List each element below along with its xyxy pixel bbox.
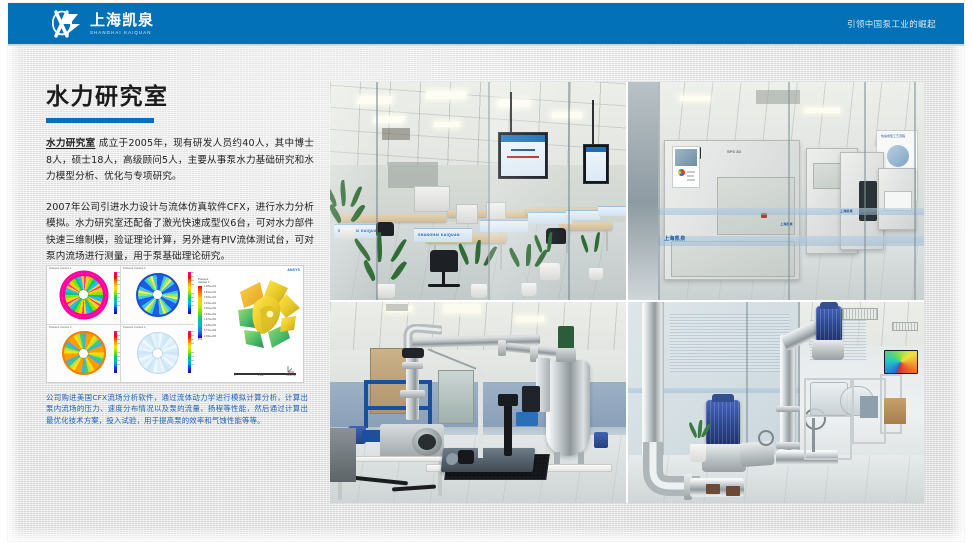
display-screen-secondary[interactable] [583,144,609,184]
legend-value: 1.579e+004 [204,319,216,322]
glass-reflection [488,82,568,300]
impeller-hub-3 [79,349,88,358]
display-screen-content [586,147,606,181]
plant-leaf [390,238,407,263]
scale-bar: 0 0.100 0.200 (m) [234,373,296,378]
cfd-simulation-figure: Pressure Contour 1 Pressure Contour 2 Pr… [46,265,304,383]
slide-root: 上海凯泉 SHANGHAI KAIQUAN 引领中国泵工业的崛起 水力研究室 水… [0,0,972,549]
partition-logo: SHANGHAI KAIQUAN [418,233,460,237]
plant-leaf [390,260,407,282]
office-cabinet [414,186,450,212]
motor-cooling-fins [816,306,842,342]
pump-base-block [706,484,720,494]
glass-partition-mullion [864,82,866,300]
instrument-box [522,386,540,412]
legend-value: 4.285e+004 [204,286,216,289]
ceiling-vent [892,322,918,331]
impeller-contour-graphic-4 [137,332,179,374]
page-title: 水力研究室 [46,84,314,111]
placard-text-line [687,179,696,181]
office-chair [430,250,458,272]
left-text-column: 水力研究室 水力研究室 成立于2005年，现有研发人员约40人，其中博士8人，硕… [46,84,314,266]
impeller-hub-1 [79,290,88,299]
pump-casing-rear [812,340,844,360]
ansys-vendor-tag: ANSYS [287,268,300,272]
ceiling-light [804,108,840,113]
ceiling-light [425,91,466,99]
ceiling-light [516,316,544,322]
motor-fan-cover [820,302,838,309]
chair-base [428,284,460,287]
placard-pie-chart [678,169,685,176]
ceiling-light [680,96,710,101]
machine-control-screen[interactable] [859,181,877,221]
photo-piv-test-rig[interactable] [330,302,626,503]
glass-reflection [330,82,376,300]
pipe-flange [400,390,425,398]
equipment-rack-post [428,380,432,426]
kaiquan-k-monogram-icon [50,10,84,38]
scale-label: 0 [234,375,235,378]
motor-cooling-fins [706,400,740,446]
hand-valve-wheel[interactable] [758,430,774,446]
brand-logo[interactable]: 上海凯泉 SHANGHAI KAIQUAN [50,10,154,38]
placard-text-line [687,171,696,173]
glass-partition-mullion [658,82,660,300]
cfd-contour-label-1: Pressure Contour 1 [49,267,72,270]
legend-value: 2.260e+003 [204,336,216,339]
legend-value: 6.770e+003 [204,330,216,333]
header-divider [8,44,964,46]
desk-partition [566,210,600,220]
equipment-rack-shelf [364,406,432,410]
ceiling-light [434,122,461,127]
photo-pump-test-loop[interactable] [628,302,924,503]
cfd-figure-caption: 公司购进美国CFX流场分析软件，通过流体动力学进行模拟计算分析，计算出泵内流场的… [46,392,308,426]
legend-value: 2.481e+004 [204,308,216,311]
pipe-flange [498,340,506,356]
piv-laser-unit[interactable] [441,448,536,472]
equipment-rack-shelf [364,380,432,384]
camera-mount-post [504,400,512,456]
laser-aperture [445,453,458,465]
office-plant [582,232,610,280]
small-pump-motor [594,432,608,448]
ceiling-light [373,116,404,123]
cfd-contour-label-4: Pressure Contour 4 [123,326,146,329]
glass-graphic-band [628,208,924,215]
plant-leaf [475,240,481,264]
side-window-reflection [628,82,658,300]
riser-pipe-large [642,302,664,456]
ceiling-vent [842,308,878,320]
legend-value-list: 4.285e+004 3.834e+004 3.383e+004 2.932e+… [204,286,216,338]
ceiling-vent [756,90,800,104]
support-column [478,368,483,458]
header-slogan: 引领中国泵工业的崛起 [847,3,936,44]
machine-access-door[interactable] [717,177,795,235]
vessel-top-valve [558,326,574,350]
monitor-ceiling-mount [592,100,594,144]
ceiling-vent [386,304,408,311]
wallchart-diagram [887,145,909,167]
wallchart-title: 快速成型工艺流程 [881,134,905,138]
scale-label: 0.100 [258,375,264,378]
office-storage-unit [456,204,478,224]
glass-partition-mullion [788,82,790,300]
vertical-inline-pump-motor-front [706,400,740,446]
decorative-plant [688,420,710,446]
background-carton [884,398,906,424]
cfd-contour-panel-3: Pressure Contour 3 [47,325,120,383]
legend-axis-label: [Pa] [198,339,224,342]
placard-photo [675,149,697,166]
impeller-3d-render [230,274,303,360]
pump-inlet-opening [418,434,436,450]
paragraph-one: 水力研究室 成立于2005年，现有研发人员约40人，其中博士8人，硕士18人，高… [46,136,314,186]
cfd-contour-panel-2: Pressure Contour 2 [121,266,194,324]
brand-name-cn: 上海凯泉 [90,13,154,28]
machine-info-placard [672,146,700,188]
legend-colorbar [198,286,202,338]
machine-lower-panel [671,241,795,277]
legend-value: 1.128e+004 [204,325,216,328]
laser-control-head [458,450,474,464]
colorbar-ticks-1 [117,272,120,314]
display-cfd-visualization [885,351,917,373]
glass-partition-mullion [376,82,378,300]
photo-grid: SHANGHAI KAIQUAN SHANGHAI KAIQUAN [330,82,924,503]
stored-parts [330,428,356,482]
brand-logo-text: 上海凯泉 SHANGHAI KAIQUAN [90,13,154,36]
plant-pot [471,284,487,298]
impeller-contour-graphic-1 [62,273,106,317]
plant-leaf [594,232,600,252]
placard-text-line [687,175,695,177]
legend-value: 2.030e+004 [204,314,216,317]
window-blinds [670,314,790,372]
display-screen-titlebar [586,147,606,152]
scale-bar-labels: 0 0.100 0.200 (m) [234,375,296,378]
plant-pot [377,284,395,298]
cfd-3d-render-panel: ANSYS Pressure Contour 1 4.285e+004 3.83… [194,266,303,382]
ceiling-vent [382,128,410,140]
legend-value: 3.834e+004 [204,292,216,295]
photo-rapid-prototyping-lab[interactable]: 快速成型工艺流程 SPS 3D [628,82,924,300]
glass-partition-mullion [914,82,916,300]
cfd-contour-panel-grid: Pressure Contour 1 Pressure Contour 2 Pr… [47,266,194,382]
cfd-contour-panel-4: Pressure Contour 4 [121,325,194,383]
paragraph-one-lead: 水力研究室 [46,138,95,149]
pressure-vessel-tank [546,360,590,456]
impeller-hub-4 [153,349,162,358]
pipe-elbow [402,324,442,348]
piv-camera [498,394,518,406]
pipe-flange [776,406,800,412]
flow-transmitter [516,412,538,426]
wall-display-monitor[interactable] [884,350,918,374]
vessel-neck [556,348,576,362]
glass-band-brand-logo-small: 上海凯泉 [840,209,853,213]
motor-fan-cover [712,394,734,402]
paragraph-two: 2007年公司引进水力设计与流体仿真软件CFX，进行水力分析模拟。水力研究室还配… [46,200,314,266]
paper-bottom-edge-highlight [8,527,964,541]
pipe-flange [402,362,423,369]
back-wall-signage [388,162,438,188]
impeller-contour-graphic-2 [136,273,180,317]
legend-unit: Contour 1 [198,281,224,284]
legend-rows: 4.285e+004 3.834e+004 3.383e+004 2.932e+… [198,286,224,338]
cfd-contour-label-3: Pressure Contour 3 [49,326,72,329]
impeller-contour-graphic-3 [62,331,106,375]
riser-pipe-mid [780,334,796,454]
background-equipment [860,396,878,418]
equipment-rack-post [364,380,368,428]
plant-pot [589,268,603,280]
vertical-inline-pump-motor-rear [816,306,842,342]
cfd-contour-label-2: Pressure Contour 2 [123,267,146,270]
pressure-legend: Pressure Contour 1 4.285e+004 3.834e+004… [198,278,224,342]
ceiling-light [444,304,480,313]
pipe-flange [776,442,800,449]
legend-value: 2.932e+004 [204,303,216,306]
glass-band-brand-logo-small: 上海凯泉 [780,222,793,226]
brand-name-en: SHANGHAI KAIQUAN [90,29,154,36]
photo-open-plan-office[interactable]: SHANGHAI KAIQUAN SHANGHAI KAIQUAN [330,82,626,300]
plant-leaf [701,423,711,438]
pump-base-block [726,486,740,496]
title-underline-rule [46,118,154,123]
machine-model-label: SPS 3D [727,149,741,154]
legend-value: 3.383e+004 [204,297,216,300]
cfd-contour-panel-1: Pressure Contour 1 [47,266,120,324]
colorbar-ticks-3 [117,331,120,373]
glass-band-brand-logo: 上海凯泉 [664,235,686,242]
header-bar: 上海凯泉 SHANGHAI KAIQUAN 引领中国泵工业的崛起 [8,3,964,44]
paper-left-edge-highlight [8,3,20,541]
desk-partition [598,206,626,216]
pipe-coupling [402,348,424,358]
lab-door[interactable] [438,370,474,424]
paper-right-edge-highlight [950,3,964,541]
plant-pot [690,444,706,462]
scale-label: 0.200 (m) [286,375,296,378]
glass-partition-mullion [568,82,570,300]
rapid-prototyping-machine-fourth[interactable] [878,168,916,230]
impeller-hub-2 [153,290,162,299]
